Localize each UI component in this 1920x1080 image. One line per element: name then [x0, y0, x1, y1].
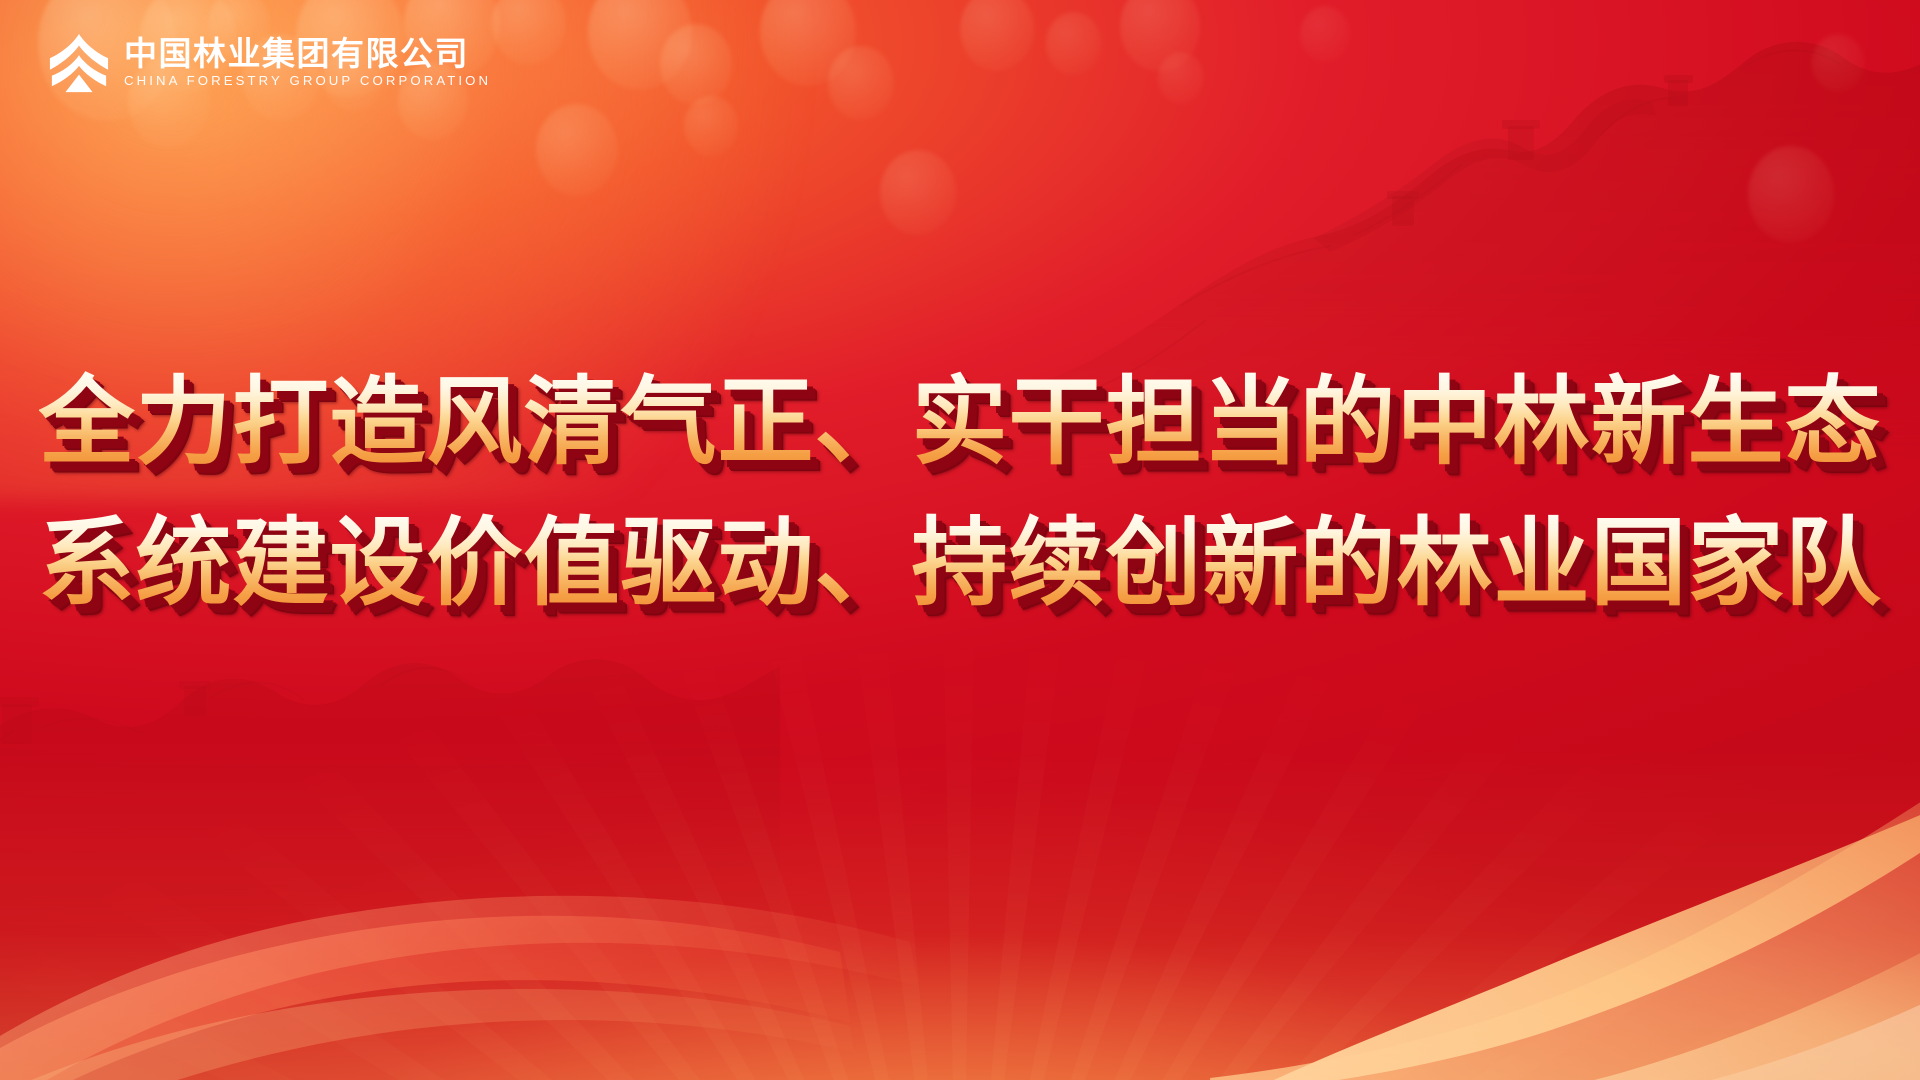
- bokeh-circle: [536, 104, 618, 196]
- headline-line-1: 全力打造风清气正、实干担当的中林新生态 全力打造风清气正、实干担当的中林新生态: [0, 352, 1920, 493]
- bokeh-circle: [660, 24, 732, 105]
- bokeh-circle: [960, 0, 1034, 71]
- silk-ribbon-bottom-left: [0, 670, 1020, 1080]
- headline-line-2-text: 系统建设价值驱动、持续创新的林业国家队: [39, 510, 1882, 617]
- bokeh-circle: [684, 96, 738, 156]
- bokeh-circle: [828, 46, 894, 120]
- forestry-mountain-mark-icon: [48, 32, 110, 94]
- headline-block: 全力打造风清气正、实干担当的中林新生态 全力打造风清气正、实干担当的中林新生态 …: [0, 352, 1920, 634]
- gold-swoosh-bottom-right: [880, 680, 1920, 1080]
- bokeh-circle: [492, 0, 566, 65]
- headline-line-2: 系统建设价值驱动、持续创新的林业国家队 系统建设价值驱动、持续创新的林业国家队: [0, 493, 1920, 634]
- headline-line-1-text: 全力打造风清气正、实干担当的中林新生态: [39, 369, 1882, 476]
- bokeh-circle: [1812, 34, 1864, 92]
- bokeh-circle: [1300, 6, 1350, 62]
- brand-text: 中国林业集团有限公司 CHINA FORESTRY GROUP CORPORAT…: [124, 36, 491, 88]
- bokeh-circle: [1748, 146, 1834, 242]
- bokeh-circle: [1158, 52, 1204, 104]
- poster-canvas: 中国林业集团有限公司 CHINA FORESTRY GROUP CORPORAT…: [0, 0, 1920, 1080]
- bokeh-circle: [1046, 12, 1102, 75]
- bokeh-circle: [880, 150, 956, 235]
- brand-name-cn: 中国林业集团有限公司: [124, 36, 491, 72]
- brand-lockup: 中国林业集团有限公司 CHINA FORESTRY GROUP CORPORAT…: [48, 30, 491, 94]
- brand-name-en: CHINA FORESTRY GROUP CORPORATION: [124, 74, 491, 89]
